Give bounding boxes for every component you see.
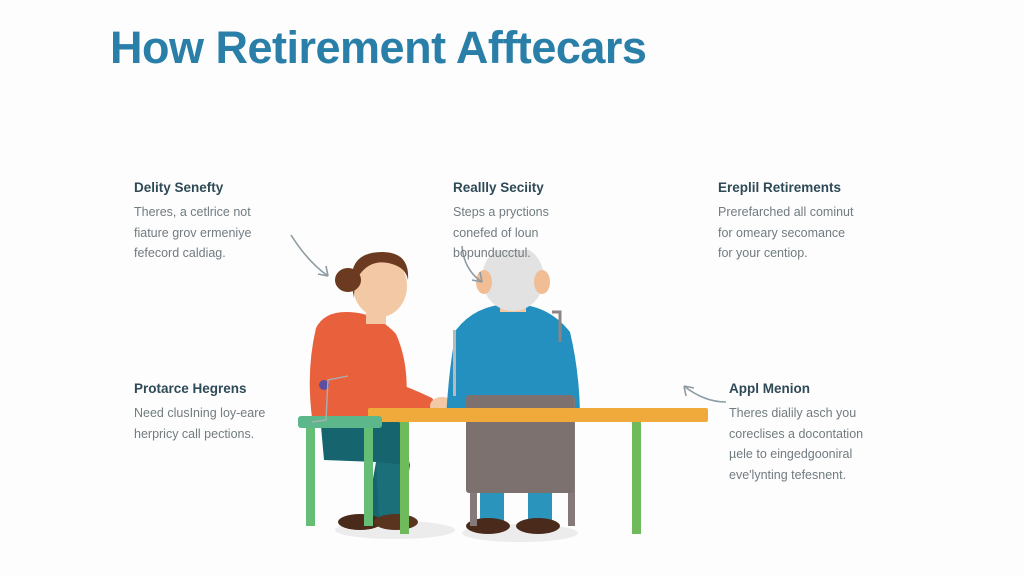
- callout-top-right-body: Prerefarched all cominut for omeary seco…: [718, 202, 933, 264]
- callout-bottom-right-heading: Appl Menion: [729, 381, 944, 397]
- table-leg-right: [632, 422, 641, 534]
- callout-top-right: Ereplil Retirements Prerefarched all com…: [718, 180, 933, 264]
- table-leg-left: [400, 422, 409, 534]
- callout-line: µele to eingedgooniral: [729, 444, 944, 465]
- callout-top-left-body: Theres, a cetlrice not fiature grov erme…: [134, 202, 349, 264]
- callout-top-middle: Reallly Seciity Steps a pryctions conefe…: [453, 180, 668, 264]
- callout-line: fefecord caldiag.: [134, 243, 349, 264]
- callout-line: Theres, a cetlrice not: [134, 202, 349, 223]
- callout-line: bopunducctul.: [453, 243, 668, 264]
- woman-shoe-front: [374, 514, 418, 530]
- callout-line: fiature grov ermeniye: [134, 223, 349, 244]
- callout-line: coreclises a docontation: [729, 424, 944, 445]
- callout-bottom-right-body: Theres dialily asch you coreclises a doc…: [729, 403, 944, 486]
- woman-hair-bun: [335, 268, 361, 292]
- table-top: [368, 408, 708, 422]
- callout-line: Prerefarched all cominut: [718, 202, 933, 223]
- man-shoe-right: [516, 518, 560, 534]
- stool-leg-right: [364, 428, 373, 526]
- callout-top-right-heading: Ereplil Retirements: [718, 180, 933, 196]
- man-ear-left: [476, 270, 492, 294]
- callout-bottom-right: Appl Menion Theres dialily asch you core…: [729, 381, 944, 486]
- callout-line: Steps a pryctions: [453, 202, 668, 223]
- callout-line: conefed of loun: [453, 223, 668, 244]
- callout-bottom-left: Protarce Hegrens Need clusIning loy-eare…: [134, 381, 349, 444]
- callout-top-middle-heading: Reallly Seciity: [453, 180, 668, 196]
- callout-top-left: Delity Senefty Theres, a cetlrice not fi…: [134, 180, 349, 264]
- man-ear-right: [534, 270, 550, 294]
- callout-line: for your centiop.: [718, 243, 933, 264]
- callout-line: Theres dialily asch you: [729, 403, 944, 424]
- callout-bottom-left-body: Need clusIning loy-eare herpricy call pe…: [134, 403, 349, 444]
- callout-bottom-left-heading: Protarce Hegrens: [134, 381, 349, 397]
- illustration-two-people-at-table: [280, 250, 740, 560]
- page-title: How Retirement Afftecars: [110, 22, 646, 74]
- pen: [453, 330, 456, 396]
- callout-line: Need clusIning loy-eare: [134, 403, 349, 424]
- callout-line: herpricy call pections.: [134, 424, 349, 445]
- callout-line: for omeary secomance: [718, 223, 933, 244]
- callout-top-left-heading: Delity Senefty: [134, 180, 349, 196]
- callout-top-middle-body: Steps a pryctions conefed of loun bopund…: [453, 202, 668, 264]
- callout-line: eve'lynting tefesnent.: [729, 465, 944, 486]
- infographic-canvas: How Retirement Afftecars: [0, 0, 1024, 576]
